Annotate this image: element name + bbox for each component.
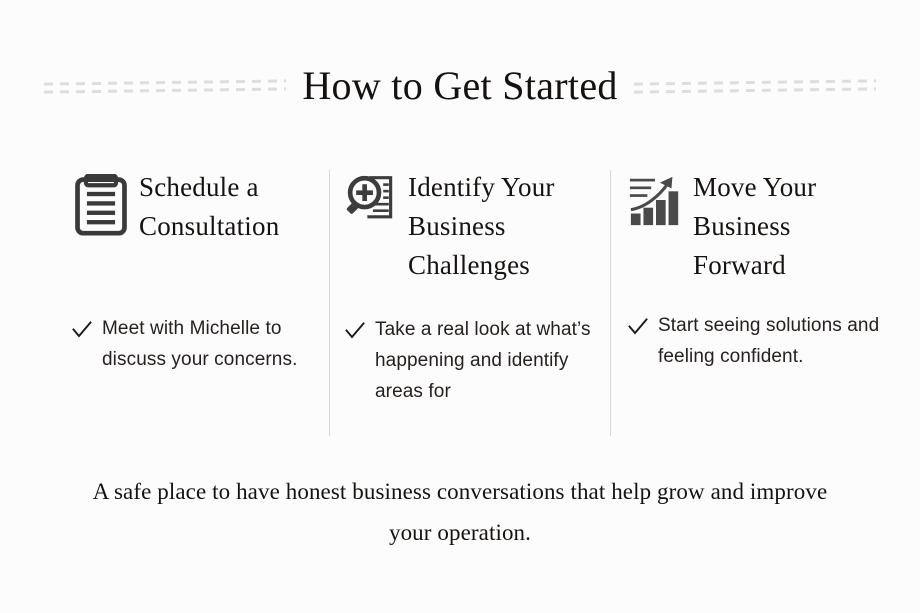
step-column-1: Schedule a Consultation Meet with Michel… (0, 168, 329, 440)
step-column-2: Identify Your Business Challenges Take a… (329, 168, 610, 440)
steps-columns: Schedule a Consultation Meet with Michel… (0, 168, 920, 440)
step-1-body: Meet with Michelle to discuss your conce… (102, 314, 317, 376)
step-1-heading: Schedule a Consultation (139, 168, 317, 246)
dashed-rule-right-icon (634, 78, 876, 94)
footer-statement-text: A safe place to have honest business con… (90, 472, 830, 554)
step-1-body-row: Meet with Michelle to discuss your conce… (72, 314, 317, 376)
step-2-heading: Identify Your Business Challenges (408, 168, 598, 285)
step-2-body-row: Take a real look at what’s happening and… (345, 315, 600, 407)
step-3-heading: Move Your Business Forward (693, 168, 858, 285)
page-title-row: How to Get Started (0, 58, 920, 114)
growth-chart-arrow-icon (628, 172, 684, 228)
footer-statement: A safe place to have honest business con… (0, 472, 920, 554)
page-title: How to Get Started (286, 66, 633, 106)
check-icon (345, 321, 365, 343)
dashed-rule-left-icon (44, 78, 286, 94)
clipboard-icon (72, 174, 130, 236)
step-3-body: Start seeing solutions and feeling confi… (658, 311, 906, 373)
magnifier-plus-document-icon (345, 172, 399, 230)
step-2-header: Identify Your Business Challenges (345, 168, 600, 285)
step-1-header: Schedule a Consultation (72, 168, 317, 246)
step-3-header: Move Your Business Forward (628, 168, 908, 285)
check-icon (72, 320, 92, 342)
check-icon (628, 317, 648, 339)
step-2-body: Take a real look at what’s happening and… (375, 315, 600, 407)
slide-canvas: How to Get Started (0, 0, 920, 613)
step-column-3: Move Your Business Forward Start seeing … (610, 168, 920, 440)
step-3-body-row: Start seeing solutions and feeling confi… (628, 311, 908, 373)
